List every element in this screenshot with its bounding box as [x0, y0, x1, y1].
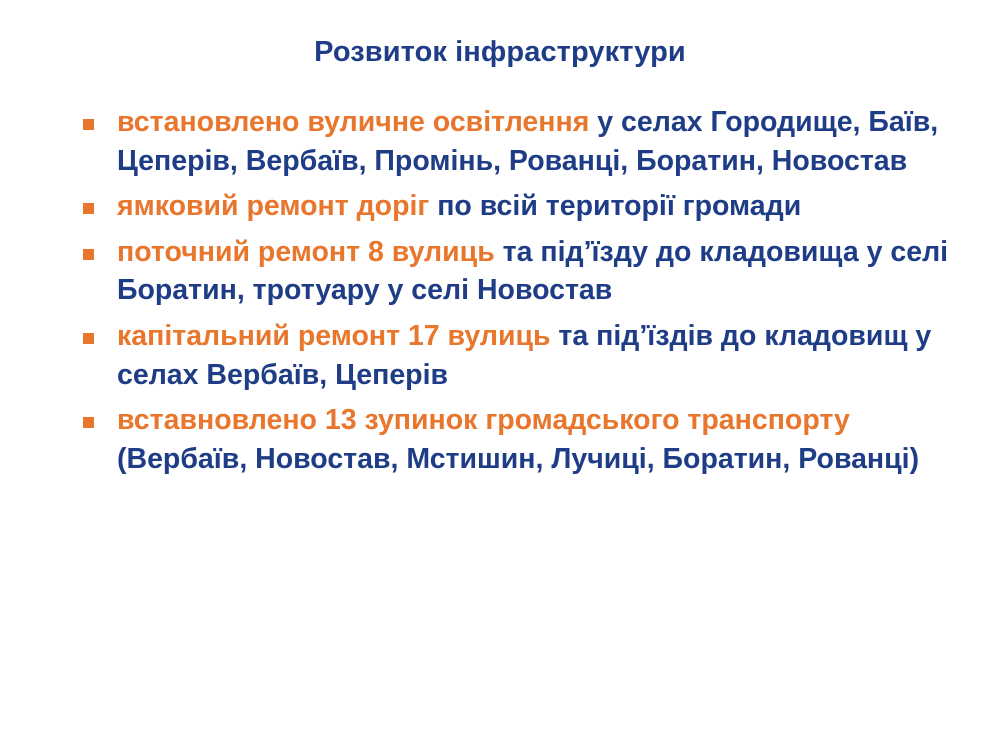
list-item: поточний ремонт 8 вулиць та під’їзду до … [78, 233, 968, 310]
list-item-text: (Вербаїв, Новостав, Мстишин, Лучиці, Бор… [117, 443, 919, 475]
list-item-highlight: капітальний ремонт 17 вулиць [117, 320, 551, 352]
filled-square-bullet-icon [83, 203, 94, 214]
page-title: Розвиток інфраструктури [0, 36, 1000, 69]
list-item: капітальний ремонт 17 вулиць та під’їзді… [78, 317, 968, 394]
list-item-highlight: встановлено вуличне освітлення [117, 106, 589, 138]
filled-square-bullet-icon [83, 249, 94, 260]
filled-square-bullet-icon [83, 119, 94, 130]
list-item-text: по всій території громади [429, 190, 801, 222]
list-item: вставновлено 13 зупинок громадського тра… [78, 401, 968, 478]
list-item-highlight: поточний ремонт 8 вулиць [117, 236, 495, 268]
list-item: ямковий ремонт доріг по всій території г… [78, 187, 968, 226]
filled-square-bullet-icon [83, 333, 94, 344]
slide-root: Розвиток інфраструктури встановлено вули… [0, 0, 1000, 750]
list-item: встановлено вуличне освітлення у селах Г… [78, 103, 968, 180]
list-item-highlight: вставновлено 13 зупинок громадського тра… [117, 404, 850, 436]
bullet-list: встановлено вуличне освітлення у селах Г… [78, 103, 968, 485]
list-item-highlight: ямковий ремонт доріг [117, 190, 429, 222]
filled-square-bullet-icon [83, 417, 94, 428]
